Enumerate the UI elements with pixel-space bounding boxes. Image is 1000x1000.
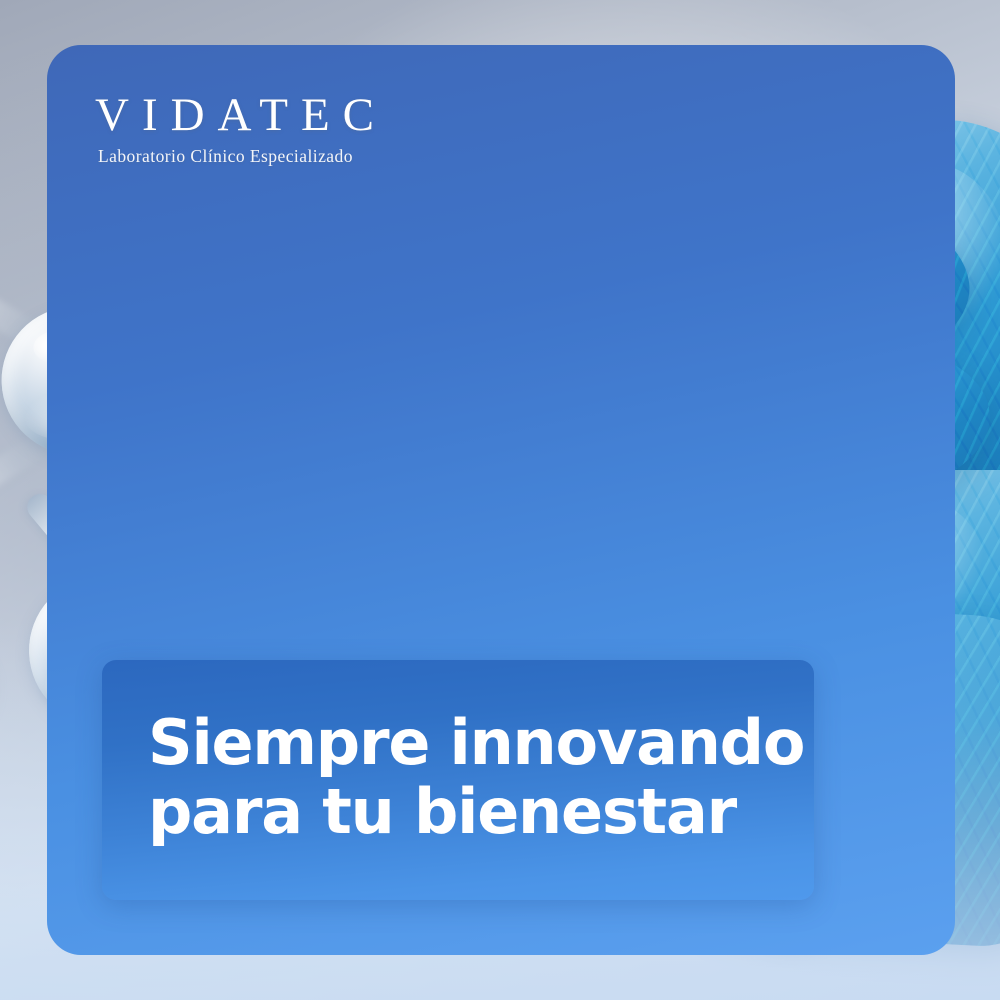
test-tube-rim [738, 104, 846, 130]
dna-rod [477, 301, 531, 652]
poster-canvas: VIDATEC Laboratorio Clínico Especializad… [0, 0, 1000, 1000]
logo-wordmark: VIDATEC [95, 92, 387, 139]
logo-tagline: Laboratorio Clínico Especializado [98, 146, 387, 167]
headline-line-1: Siempre innovando [148, 708, 814, 777]
headline-banner: Siempre innovando para tu bienestar [102, 660, 814, 900]
brand-logo: VIDATEC Laboratorio Clínico Especializad… [95, 92, 387, 167]
headline-line-2: para tu bienestar [148, 777, 814, 846]
